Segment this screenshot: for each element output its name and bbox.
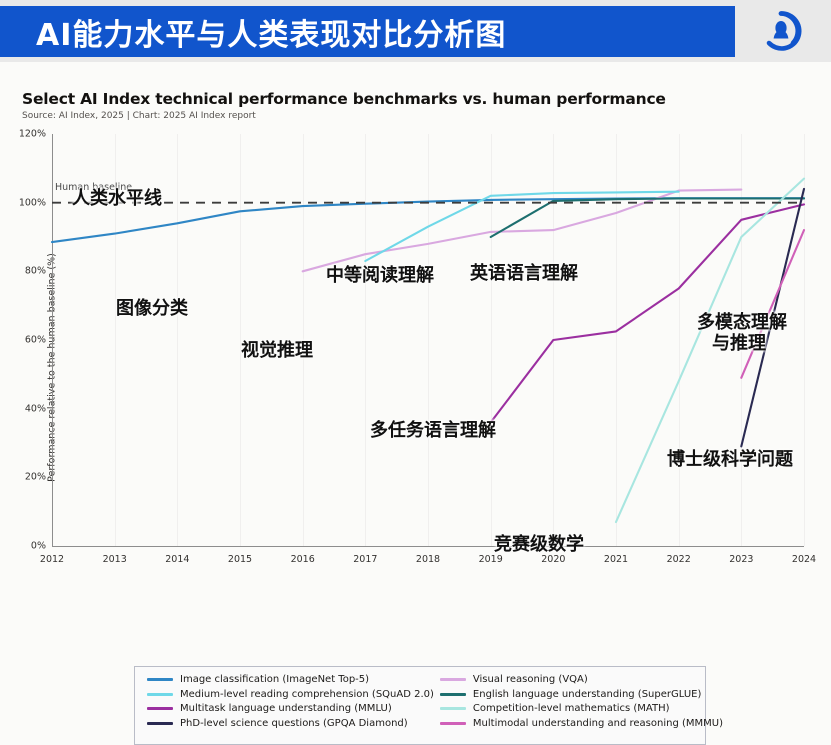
x-tick-label: 2024 (792, 554, 816, 565)
legend-item[interactable]: Medium-level reading comprehension (SQuA… (147, 689, 434, 700)
header-banner: AI能力水平与人类表现对比分析图 (0, 0, 831, 62)
multimodal-understanding-cn-line2: 与推理 (712, 335, 766, 354)
series-lines (52, 134, 804, 546)
x-tick-label: 2015 (228, 554, 252, 565)
legend-item[interactable]: Multimodal understanding and reasoning (… (440, 718, 723, 729)
y-tick-label: 80% (25, 266, 46, 277)
legend-color-swatch (440, 722, 466, 725)
x-tick-label: 2018 (416, 554, 440, 565)
human-baseline-cn: 人类水平线 (72, 190, 162, 209)
y-tick-label: 120% (19, 129, 46, 140)
x-tick-label: 2017 (353, 554, 377, 565)
x-tick-label: 2022 (667, 554, 691, 565)
legend-color-swatch (147, 678, 173, 681)
x-tick-label: 2019 (479, 554, 503, 565)
phd-science-questions-cn: 博士级科学问题 (667, 451, 793, 470)
x-axis-line (52, 546, 804, 547)
legend-color-swatch (440, 678, 466, 681)
y-tick-label: 40% (25, 403, 46, 414)
y-tick-label: 60% (25, 335, 46, 346)
series-line (741, 230, 804, 378)
chart-card: Select AI Index technical performance be… (0, 62, 831, 709)
legend-label: Visual reasoning (VQA) (473, 674, 588, 685)
y-tick-label: 20% (25, 472, 46, 483)
chart-legend: Image classification (ImageNet Top-5)Vis… (134, 666, 706, 745)
title-banner: AI能力水平与人类表现对比分析图 (0, 6, 735, 57)
x-tick-label: 2023 (729, 554, 753, 565)
competition-math-cn: 竞赛级数学 (494, 536, 584, 555)
y-tick-label: 100% (19, 197, 46, 208)
legend-color-swatch (147, 693, 173, 696)
legend-color-swatch (440, 693, 466, 696)
x-tick-label: 2020 (541, 554, 565, 565)
legend-item[interactable]: Visual reasoning (VQA) (440, 674, 723, 685)
medium-reading-comprehension-cn: 中等阅读理解 (326, 267, 434, 286)
x-tick-label: 2021 (604, 554, 628, 565)
x-tick-label: 2012 (40, 554, 64, 565)
x-tick-label: 2013 (103, 554, 127, 565)
legend-label: PhD-level science questions (GPQA Diamon… (180, 718, 408, 729)
page-title: AI能力水平与人类表现对比分析图 (0, 10, 506, 54)
legend-color-swatch (147, 722, 173, 725)
legend-item[interactable]: Image classification (ImageNet Top-5) (147, 674, 434, 685)
legend-label: English language understanding (SuperGLU… (473, 689, 701, 700)
visual-reasoning-cn: 视觉推理 (241, 342, 313, 361)
multitask-language-understanding-cn: 多任务语言理解 (370, 422, 496, 441)
plot-area: 0%20%40%60%80%100%120% 20122013201420152… (52, 134, 804, 546)
multimodal-understanding-cn-line1: 多模态理解 (697, 314, 787, 333)
legend-item[interactable]: English language understanding (SuperGLU… (440, 689, 723, 700)
series-line (52, 198, 804, 242)
gridline (804, 134, 805, 546)
legend-label: Multimodal understanding and reasoning (… (473, 718, 723, 729)
series-line (616, 179, 804, 522)
chart-title: Select AI Index technical performance be… (22, 90, 666, 108)
legend-label: Image classification (ImageNet Top-5) (180, 674, 369, 685)
chart-source: Source: AI Index, 2025 | Chart: 2025 AI … (22, 111, 256, 121)
qq-penguin-circle-icon (756, 8, 806, 54)
y-tick-label: 0% (31, 541, 46, 552)
english-language-understanding-cn: 英语语言理解 (470, 265, 578, 284)
legend-item[interactable]: PhD-level science questions (GPQA Diamon… (147, 718, 434, 729)
image-classification-cn: 图像分类 (116, 300, 188, 319)
x-tick-label: 2014 (165, 554, 189, 565)
x-tick-label: 2016 (291, 554, 315, 565)
legend-label: Medium-level reading comprehension (SQuA… (180, 689, 434, 700)
